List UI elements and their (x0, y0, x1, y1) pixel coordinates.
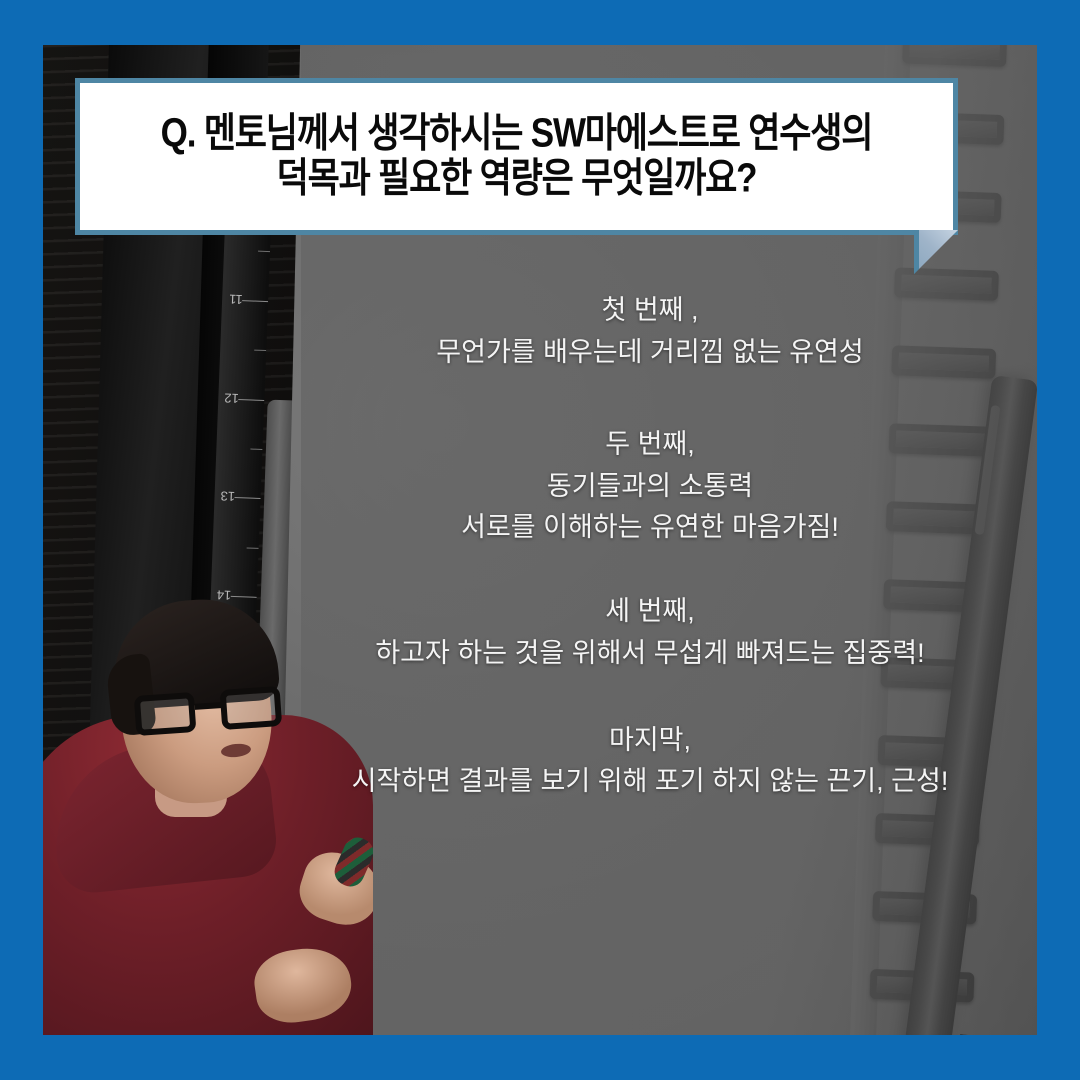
answer-line-2-1: 동기들과의 소통력 (300, 466, 1000, 507)
answer-lead-1: 첫 번째 , (300, 290, 1000, 332)
answer-body: 첫 번째 , 무언가를 배우는데 거리낌 없는 유연성 두 번째, 동기들과의 … (300, 290, 1000, 802)
question-title-card: Q. 멘토님께서 생각하시는 SW마에스트로 연수생의 덕목과 필요한 역량은 … (75, 78, 958, 235)
glasses-lens-right (220, 686, 283, 730)
answer-line-4-1: 시작하면 결과를 보기 위해 포기 하지 않는 끈기, 근성! (300, 761, 1000, 802)
title-line-2: 덕목과 필요한 역량은 무엇일까요? (277, 156, 757, 201)
glasses-lens-left (134, 692, 197, 736)
ruler-tick-minor (250, 448, 262, 449)
answer-lead-3: 세 번째, (300, 591, 1000, 633)
poster-card: 1011121314151617 (0, 0, 1080, 1080)
title-line-1: Q. 멘토님께서 생각하시는 SW마에스트로 연수생의 (161, 112, 873, 157)
ruler-tick-major (235, 497, 261, 499)
answer-block-3: 세 번째, 하고자 하는 것을 위해서 무섭게 빠져드는 집중력! (300, 591, 1000, 673)
answer-line-2-2: 서로를 이해하는 유연한 마음가짐! (300, 507, 1000, 548)
ruler-number: 11 (228, 291, 242, 307)
ruler-tick-minor (254, 350, 266, 351)
ruler-tick-minor (247, 547, 259, 548)
answer-lead-4: 마지막, (300, 720, 1000, 762)
answer-block-1: 첫 번째 , 무언가를 배우는데 거리낌 없는 유연성 (300, 290, 1000, 372)
answer-line-3-1: 하고자 하는 것을 위해서 무섭게 빠져드는 집중력! (300, 633, 1000, 674)
ruler-tick-major (242, 300, 268, 302)
glasses-bridge (194, 702, 222, 710)
answer-lead-2: 두 번째, (300, 424, 1000, 466)
ruler-tick-minor (258, 251, 270, 252)
answer-line-1-1: 무언가를 배우는데 거리낌 없는 유연성 (300, 332, 1000, 373)
ruler-number: 12 (224, 390, 239, 406)
ruler-tick-major (238, 399, 264, 401)
ruler-number: 13 (220, 489, 235, 505)
answer-block-2: 두 번째, 동기들과의 소통력 서로를 이해하는 유연한 마음가짐! (300, 424, 1000, 547)
answer-block-4: 마지막, 시작하면 결과를 보기 위해 포기 하지 않는 끈기, 근성! (300, 720, 1000, 802)
